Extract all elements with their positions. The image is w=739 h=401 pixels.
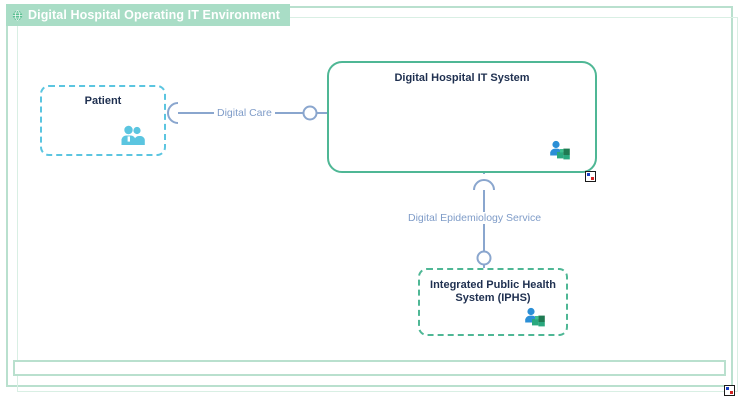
node-patient[interactable]: Patient [40, 85, 166, 156]
resize-handle-marker-system[interactable] [585, 171, 596, 182]
application-component-icon [522, 306, 548, 328]
connector-label-digital-care: Digital Care [214, 107, 275, 119]
node-iphs-label-line2: System (IPHS) [455, 292, 530, 304]
marker-dot-red [730, 391, 733, 394]
diagram-bottom-bar [13, 360, 726, 376]
diagram-title: Digital Hospital Operating IT Environmen… [28, 8, 280, 22]
node-digital-hospital-it-system[interactable]: Digital Hospital IT System [327, 61, 597, 173]
diagram-canvas: Digital Hospital Operating IT Environmen… [0, 0, 739, 401]
node-iphs-label-line1: Integrated Public Health [430, 279, 556, 291]
marker-dot-blue [587, 173, 590, 176]
connector-label-digital-epidemiology-service: Digital Epidemiology Service [405, 212, 544, 224]
marker-dot-red [591, 177, 594, 180]
node-integrated-public-health-system[interactable]: Integrated Public Health System (IPHS) [418, 268, 568, 336]
node-patient-label: Patient [48, 95, 158, 108]
marker-dot-blue [726, 387, 729, 390]
business-actor-group-icon [120, 124, 146, 146]
node-system-label: Digital Hospital IT System [335, 72, 589, 85]
diagram-title-tab[interactable]: Digital Hospital Operating IT Environmen… [6, 4, 290, 26]
node-iphs-label: Integrated Public Health System (IPHS) [426, 279, 560, 305]
resize-handle-marker-frame[interactable] [724, 385, 735, 396]
diagram-bottom-bar-inner [17, 364, 722, 372]
application-component-icon [547, 139, 573, 161]
globe-icon [12, 10, 23, 21]
